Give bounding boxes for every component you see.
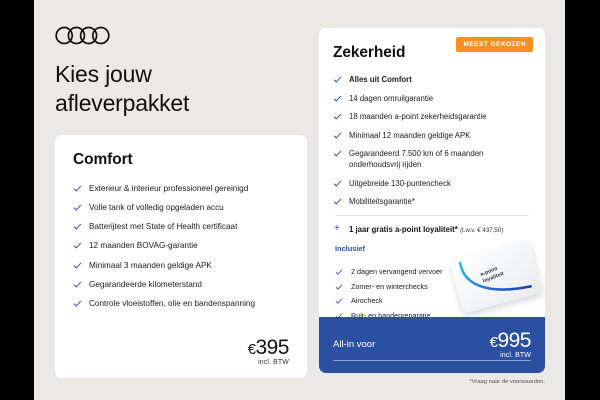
list-item-label: 2 dagen vervangend vervoer [351,267,443,276]
zekerheid-card-body: Zekerheid Alles uit Comfort 14 dagen omr… [319,28,545,321]
check-icon [73,261,82,270]
list-item: Uitgebreide 130-puntencheck [333,178,531,189]
divider [335,215,529,216]
check-icon [333,94,342,103]
check-icon [73,203,82,212]
list-item: 14 dagen omruilgarantie [333,93,531,104]
zekerheid-price-bar: All-in voor €995 incl. BTW [319,317,545,373]
list-item: 12 maanden BOVAG-garantie [73,240,289,252]
list-item: Mobiliteitsgarantie* [333,196,531,207]
list-item: Minimaal 12 maanden geldige APK [333,130,531,141]
check-icon [335,297,343,305]
check-icon [73,184,82,193]
check-icon [73,299,82,308]
list-item-label: Minimaal 12 maanden geldige APK [349,131,470,140]
page-title-line2: afleverpakket [55,89,189,118]
list-item: Gegarandeerd 7.500 km of 6 maanden onder… [333,148,531,170]
list-item: Gegarandeerde kilometerstand [73,279,289,291]
check-icon [333,112,342,121]
list-item: Alles uit Comfort [333,74,531,85]
audi-rings-logo [55,26,111,50]
comfort-card-title: Comfort [73,151,289,169]
check-icon [73,241,82,250]
zekerheid-price: €995 [490,330,531,351]
inclusief-section: Inclusief 2 dagen vervangend vervoer Zom… [333,244,531,321]
list-item: Batterijtest met State of Health certifi… [73,221,289,233]
divider [333,360,531,361]
bonus-row: +1 jaar gratis a-point loyaliteit* (t.w.… [333,225,531,234]
footnote: *Vraag naar de voorwaarden. [469,379,545,385]
comfort-price-amount: 395 [255,336,289,359]
check-icon [335,268,343,276]
list-item: 18 maanden a-point zekerheidsgarantie [333,111,531,122]
zekerheid-feature-list: Alles uit Comfort 14 dagen omruilgaranti… [333,74,531,208]
list-item: Exterieur & interieur professioneel gere… [73,183,289,195]
zekerheid-price-block: €995 incl. BTW [490,330,531,359]
list-item-label: Controle vloeistoffen, olie en bandenspa… [89,299,255,308]
comfort-price: €395 [248,336,289,360]
check-icon [333,131,342,140]
list-item-label: Minimaal 3 maanden geldige APK [89,261,212,270]
comfort-price-note: incl. BTW [248,359,289,366]
comfort-price-block: €395 incl. BTW [248,336,289,366]
check-icon [333,197,342,206]
page-title: Kies jouw afleverpakket [55,60,189,119]
list-item-label: Airocheck [351,296,383,305]
list-item-label: Gegarandeerde kilometerstand [89,280,202,289]
check-icon [335,283,343,291]
check-icon [73,222,82,231]
allin-label: All-in voor [333,339,375,350]
list-item-label: Zomer- en winterchecks [351,282,428,291]
list-item: Volle tank of volledig opgeladen accu [73,202,289,214]
list-item-label: Exterieur & interieur professioneel gere… [89,184,248,193]
zekerheid-price-amount: 995 [497,329,531,352]
list-item-label: 12 maanden BOVAG-garantie [89,241,198,250]
list-item-label: Mobiliteitsgarantie* [349,197,415,206]
status-badge: MEEST GEKOZEN [456,37,533,52]
list-item-label: Gegarandeerd 7.500 km of 6 maanden onder… [349,149,483,169]
list-item: Controle vloeistoffen, olie en bandenspa… [73,298,289,310]
list-item-label: 18 maanden a-point zekerheidsgarantie [349,112,486,121]
check-icon [73,280,82,289]
zekerheid-package-card[interactable]: MEEST GEKOZEN Zekerheid Alles uit Comfor… [319,28,545,373]
plus-icon: + [334,224,340,234]
list-item-label: 14 dagen omruilgarantie [349,94,433,103]
bonus-value: (t.w.v. € 437,50) [460,227,503,234]
bonus-label: 1 jaar gratis a-point loyaliteit* [349,225,458,234]
check-icon [333,75,342,84]
list-item-label: Uitgebreide 130-puntencheck [349,179,451,188]
list-item-label: Alles uit Comfort [349,75,412,84]
page-canvas: Kies jouw afleverpakket Comfort Exterieu… [34,0,565,400]
list-item: Minimaal 3 maanden geldige APK [73,260,289,272]
list-item-label: Volle tank of volledig opgeladen accu [89,203,224,212]
check-icon [333,179,342,188]
comfort-feature-list: Exterieur & interieur professioneel gere… [73,183,289,309]
page-title-line1: Kies jouw [55,60,189,89]
comfort-package-card[interactable]: Comfort Exterieur & interieur profession… [55,135,307,378]
zekerheid-price-note: incl. BTW [490,352,531,359]
check-icon [333,149,342,158]
list-item-label: Batterijtest met State of Health certifi… [89,222,237,231]
left-column: Kies jouw afleverpakket Comfort Exterieu… [55,0,307,400]
